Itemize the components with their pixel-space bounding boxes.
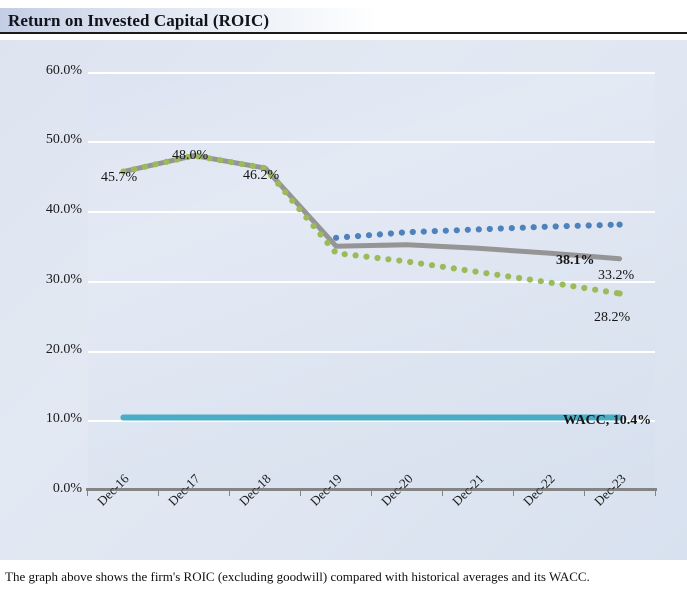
gridline-60	[88, 72, 655, 74]
y-tick-label: 0.0%	[4, 481, 82, 497]
x-tick	[300, 491, 301, 496]
y-tick-label: 50.0%	[4, 132, 82, 148]
x-tick	[87, 491, 88, 496]
data-label-28-2: 28.2%	[594, 310, 630, 326]
y-tick-label: 60.0%	[4, 63, 82, 79]
data-label-33-2: 33.2%	[598, 268, 634, 284]
chart-title-bar: Return on Invested Capital (ROIC)	[0, 8, 687, 34]
x-tick	[655, 491, 656, 496]
footer-note: The graph above shows the firm's ROIC (e…	[5, 569, 590, 585]
x-tick	[442, 491, 443, 496]
gridline-40	[88, 211, 655, 213]
page-title: Return on Invested Capital (ROIC)	[8, 11, 269, 31]
y-axis: 60.0% 50.0% 40.0% 30.0% 20.0% 10.0% 0.0%	[0, 72, 82, 490]
y-tick-label: 20.0%	[4, 342, 82, 358]
data-label-46-2: 46.2%	[243, 168, 279, 184]
x-tick	[158, 491, 159, 496]
data-label-48-0: 48.0%	[172, 148, 208, 164]
gridline-20	[88, 351, 655, 353]
gridline-50	[88, 141, 655, 143]
gridline-30	[88, 281, 655, 283]
x-tick	[229, 491, 230, 496]
y-tick-label: 40.0%	[4, 202, 82, 218]
y-tick-label: 30.0%	[4, 272, 82, 288]
chart-panel: 60.0% 50.0% 40.0% 30.0% 20.0% 10.0% 0.0%…	[0, 40, 687, 560]
data-label-45-7: 45.7%	[101, 170, 137, 186]
data-label-wacc: WACC, 10.4%	[563, 413, 651, 429]
x-tick	[371, 491, 372, 496]
y-tick-label: 10.0%	[4, 411, 82, 427]
x-tick	[513, 491, 514, 496]
data-label-38-1: 38.1%	[556, 253, 595, 269]
footer: The graph above shows the firm's ROIC (e…	[0, 560, 687, 601]
x-tick	[584, 491, 585, 496]
